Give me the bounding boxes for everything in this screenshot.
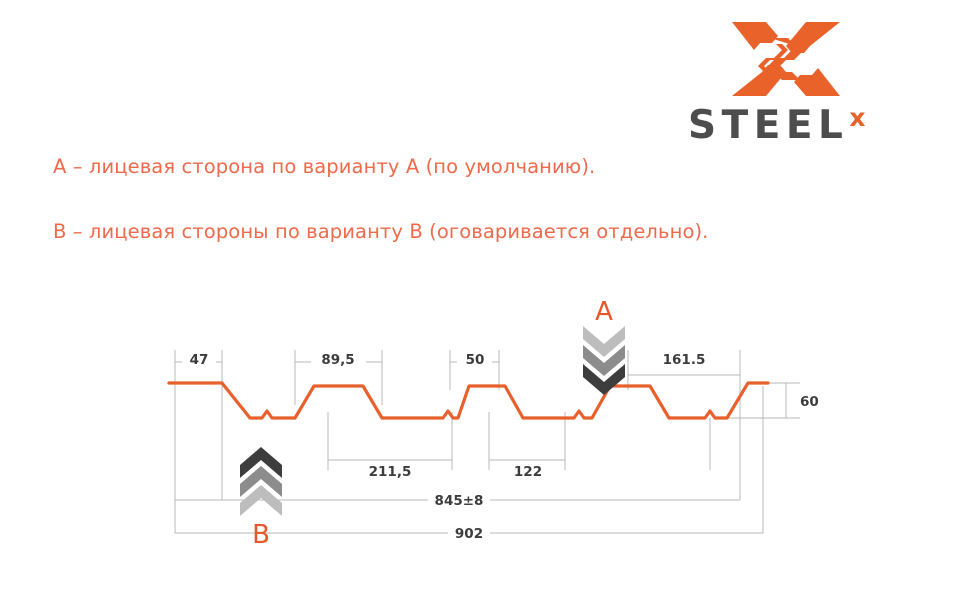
face-marker-a-label: A (595, 297, 613, 327)
dimension-47: 47 (175, 350, 222, 369)
dimension-161-5-label: 161.5 (663, 352, 706, 368)
dimension-122-label: 122 (514, 464, 542, 480)
dimension-60-label: 60 (800, 394, 819, 410)
dimension-211-5: 211,5 (328, 453, 452, 480)
dimension-161-5: 161.5 (628, 350, 740, 382)
dimension-122: 122 (489, 453, 565, 480)
dimension-89-5: 89,5 (295, 350, 382, 369)
profile-cross-section-line (169, 383, 768, 418)
dimension-50-label: 50 (466, 352, 485, 368)
face-marker-b: B (240, 447, 282, 550)
profile-technical-drawing: 47 89,5 50 161.5 60 (0, 0, 970, 597)
dimension-89-5-label: 89,5 (321, 352, 354, 368)
dimension-50: 50 (450, 350, 499, 369)
dimension-60-height: 60 (779, 383, 819, 418)
dimension-845-label: 845±8 (435, 493, 484, 509)
dimension-902-label: 902 (455, 526, 483, 542)
face-marker-b-label: B (252, 520, 270, 550)
face-marker-a: A (583, 297, 625, 395)
dimension-47-label: 47 (190, 352, 209, 368)
dimension-211-5-label: 211,5 (369, 464, 412, 480)
chevron-up-icon (240, 447, 282, 516)
